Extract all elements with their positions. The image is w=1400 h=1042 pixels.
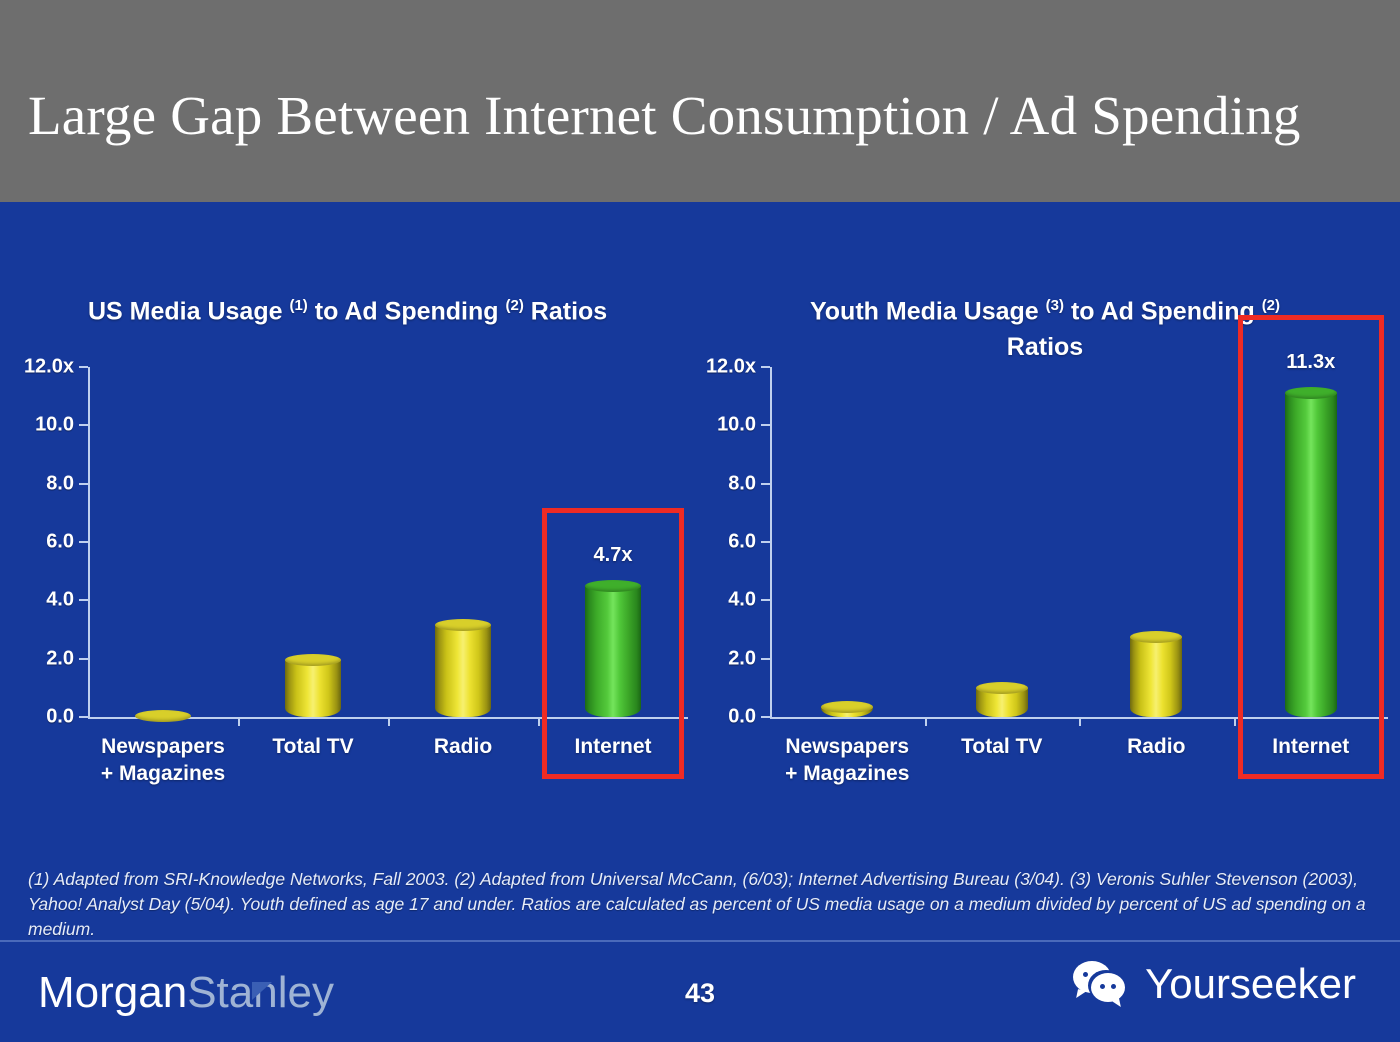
y-axis-tick <box>761 483 770 485</box>
y-axis-label: 12.0x <box>24 356 74 379</box>
wechat-bubbles-icon <box>1073 961 1131 1007</box>
y-axis-label: 6.0 <box>728 531 756 554</box>
slide-footer: MorganStanley 43 Yourseeker <box>0 942 1400 1042</box>
y-axis-tick <box>79 658 88 660</box>
y-axis-label: 2.0 <box>728 647 756 670</box>
x-axis-category-label: Total TV <box>961 733 1042 760</box>
slide-body: US Media Usage (1) to Ad Spending (2) Ra… <box>0 202 1400 1042</box>
y-axis-tick <box>79 424 88 426</box>
slide-header-band: Large Gap Between Internet Consumption /… <box>0 0 1400 202</box>
y-axis-line <box>88 367 90 717</box>
x-axis-label-line: Radio <box>1127 733 1185 760</box>
y-axis-tick <box>761 716 770 718</box>
y-axis-tick <box>79 716 88 718</box>
bar-radio <box>435 619 491 717</box>
y-axis-line <box>770 367 772 717</box>
y-axis-label: 10.0 <box>717 414 756 437</box>
x-axis-tick <box>388 717 390 726</box>
x-axis-category-label: Total TV <box>272 733 353 760</box>
x-axis-label-line: Newspapers <box>101 733 225 760</box>
y-axis-label: 8.0 <box>46 472 74 495</box>
y-axis-tick <box>761 424 770 426</box>
chart-title-sup-1: (1) <box>289 297 307 314</box>
x-axis-category-label: Newspapers+ Magazines <box>785 733 909 787</box>
highlight-box-internet-us <box>542 508 684 779</box>
x-axis-label-line: + Magazines <box>785 760 909 787</box>
y-axis-tick <box>79 483 88 485</box>
x-axis-tick <box>538 717 540 726</box>
y-axis-tick <box>761 658 770 660</box>
x-axis-tick <box>1079 717 1081 726</box>
x-axis-label-line: Newspapers <box>785 733 909 760</box>
highlight-box-internet-youth <box>1238 315 1385 779</box>
chart-title-part-a: US Media Usage <box>88 297 283 325</box>
x-axis-tick <box>238 717 240 726</box>
y-axis-label: 6.0 <box>46 531 74 554</box>
chart-title-part-c: Ratios <box>1007 333 1083 361</box>
yourseeker-label: Yourseeker <box>1145 960 1356 1008</box>
bar-total-tv <box>976 682 1028 717</box>
bar-newspapers-magazines <box>135 710 191 717</box>
chart-title-part-b: to Ad Spending <box>315 297 499 325</box>
y-axis-label: 0.0 <box>728 706 756 729</box>
chart-title-us: US Media Usage (1) to Ad Spending (2) Ra… <box>10 288 700 329</box>
y-axis-label: 8.0 <box>728 472 756 495</box>
x-axis-tick <box>1234 717 1236 726</box>
x-axis-tick <box>925 717 927 726</box>
y-axis-label: 4.0 <box>728 589 756 612</box>
x-axis-label-line: Radio <box>434 733 492 760</box>
chart-title-sup-3: (3) <box>1046 297 1064 314</box>
x-axis-label-line: Total TV <box>961 733 1042 760</box>
y-axis-label: 2.0 <box>46 647 74 670</box>
chart-panel-youth-media-usage: Youth Media Usage (3) to Ad Spending (2)… <box>700 202 1390 822</box>
chart-title-sup-2: (2) <box>505 297 523 314</box>
x-axis-category-label: Radio <box>1127 733 1185 760</box>
y-axis-label: 12.0x <box>706 356 756 379</box>
bar-radio <box>1130 631 1182 717</box>
bar-total-tv <box>285 654 341 717</box>
x-axis-label-line: + Magazines <box>101 760 225 787</box>
page-title: Large Gap Between Internet Consumption /… <box>28 88 1301 143</box>
y-axis-tick <box>761 366 770 368</box>
y-axis-tick <box>79 599 88 601</box>
chart-title-sup-2: (2) <box>1262 297 1280 314</box>
x-axis-category-label: Newspapers+ Magazines <box>101 733 225 787</box>
y-axis-tick <box>761 599 770 601</box>
y-axis-label: 4.0 <box>46 589 74 612</box>
x-axis-category-label: Radio <box>434 733 492 760</box>
bar-newspapers-magazines <box>821 701 873 717</box>
chart-title-part-b: to Ad Spending <box>1071 297 1255 325</box>
yourseeker-watermark: Yourseeker <box>1073 960 1356 1008</box>
chart-panel-us-media-usage: US Media Usage (1) to Ad Spending (2) Ra… <box>10 202 700 822</box>
y-axis-tick <box>79 541 88 543</box>
footnotes: (1) Adapted from SRI-Knowledge Networks,… <box>28 867 1368 942</box>
chart-title-part-a: Youth Media Usage <box>810 297 1039 325</box>
x-axis-label-line: Total TV <box>272 733 353 760</box>
y-axis-tick <box>79 366 88 368</box>
y-axis-label: 0.0 <box>46 706 74 729</box>
y-axis-label: 10.0 <box>35 414 74 437</box>
chart-title-part-c: Ratios <box>531 297 607 325</box>
y-axis-tick <box>761 541 770 543</box>
